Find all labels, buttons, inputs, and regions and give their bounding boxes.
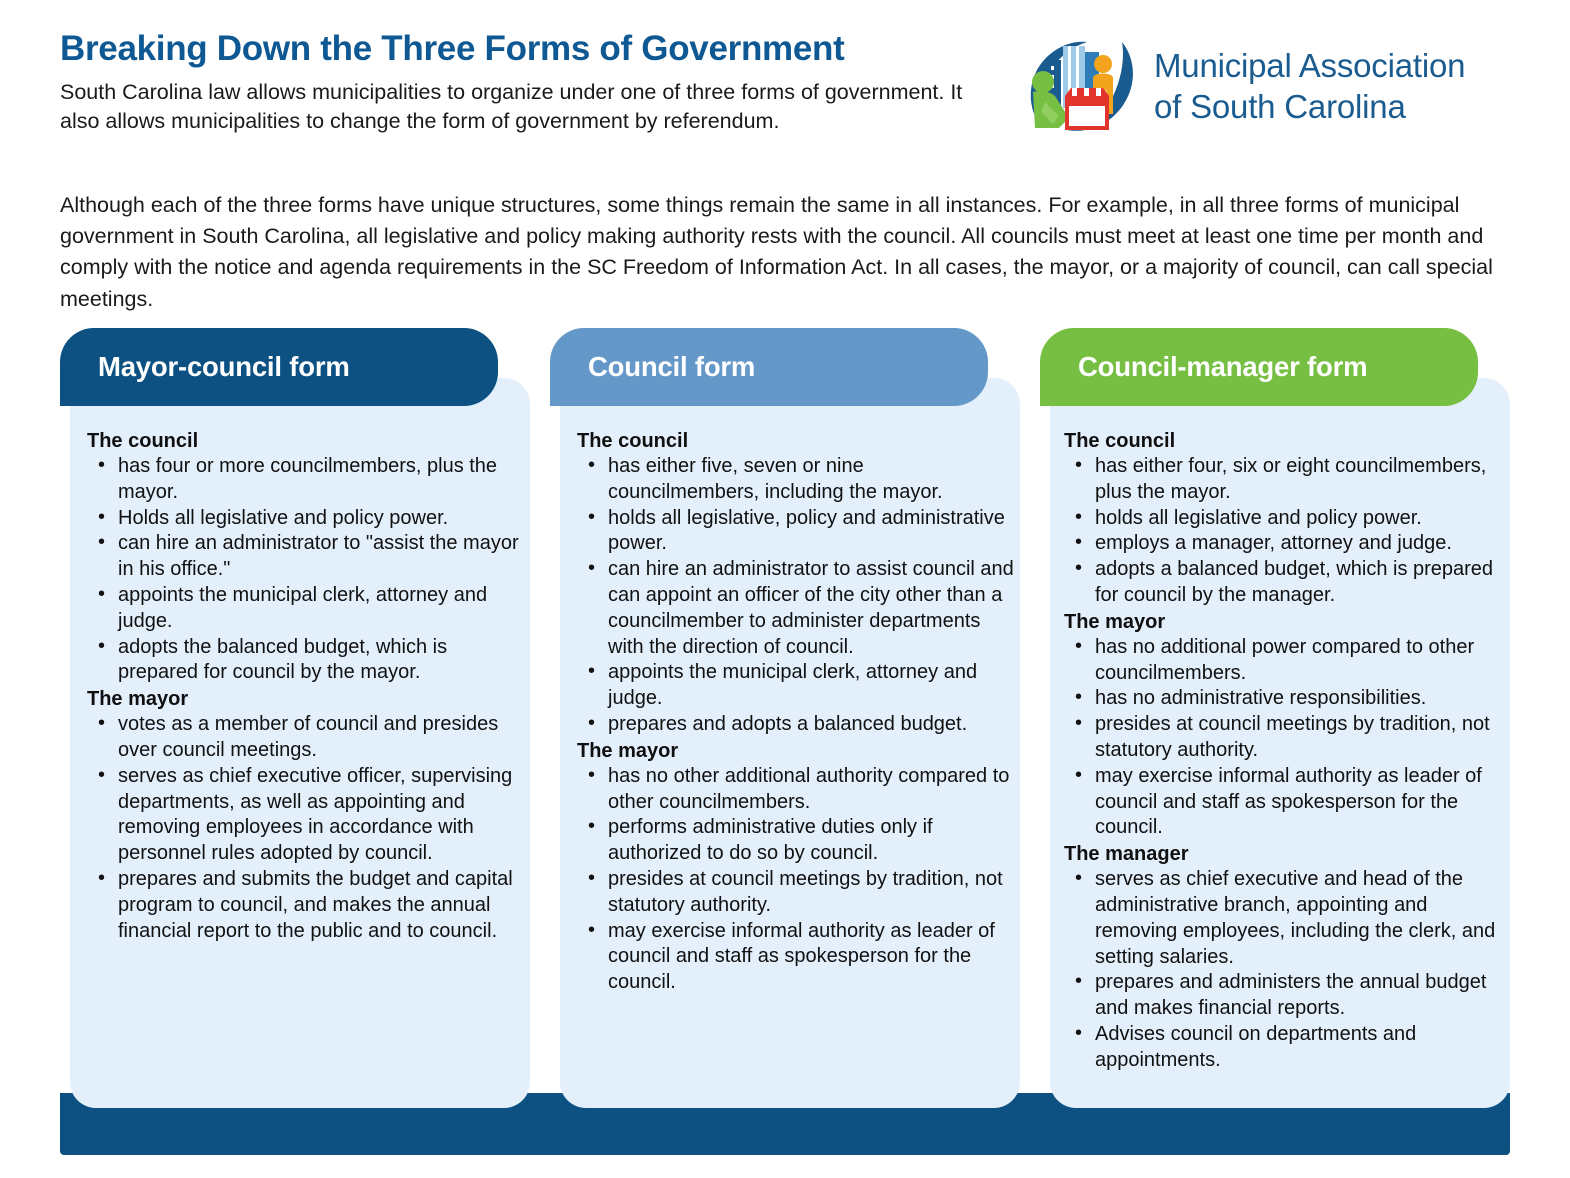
bullet-list: has either four, six or eight councilmem…: [1064, 454, 1508, 609]
bullet-list: votes as a member of council and preside…: [87, 712, 519, 944]
bullet-list: has either five, seven or nine councilme…: [577, 454, 1017, 738]
list-item: has either four, six or eight councilmem…: [1064, 454, 1508, 506]
list-item: serves as chief executive and head of th…: [1064, 867, 1508, 970]
card-title: Council form: [588, 351, 755, 383]
organization-name: Municipal Association of South Carolina: [1154, 45, 1465, 128]
list-item: can hire an administrator to assist coun…: [577, 557, 1017, 660]
card-header-banner: Council-manager form: [1040, 328, 1478, 406]
card-header-banner: Council form: [550, 328, 988, 406]
page-title: Breaking Down the Three Forms of Governm…: [60, 28, 1020, 69]
list-item: may exercise informal authority as leade…: [577, 919, 1017, 996]
section-heading: The council: [87, 430, 519, 453]
list-item: appoints the municipal clerk, attorney a…: [87, 583, 519, 635]
section-heading: The council: [577, 430, 1017, 453]
intro-paragraph: Although each of the three forms have un…: [60, 190, 1512, 315]
list-item: has no other additional authority compar…: [577, 764, 1017, 816]
section-heading: The mayor: [1064, 611, 1508, 634]
list-item: presides at council meetings by traditio…: [1064, 712, 1508, 764]
list-item: appoints the municipal clerk, attorney a…: [577, 660, 1017, 712]
list-item: serves as chief executive officer, super…: [87, 764, 519, 867]
municipal-association-crescent-city-logo-icon: [1025, 30, 1137, 142]
section-heading: The mayor: [87, 688, 519, 711]
page-subhead: South Carolina law allows municipalities…: [60, 78, 965, 135]
forms-of-government-cards: Mayor-council formThe councilhas four or…: [60, 328, 1510, 1108]
government-form-card: Mayor-council formThe councilhas four or…: [60, 328, 530, 1108]
section-heading: The council: [1064, 430, 1508, 453]
list-item: has no additional power compared to othe…: [1064, 635, 1508, 687]
government-form-card: Council formThe councilhas either five, …: [550, 328, 1020, 1108]
card-title: Council-manager form: [1078, 351, 1367, 383]
list-item: can hire an administrator to "assist the…: [87, 531, 519, 583]
list-item: prepares and submits the budget and capi…: [87, 867, 519, 944]
list-item: prepares and administers the annual budg…: [1064, 970, 1508, 1022]
list-item: holds all legislative and policy power.: [1064, 506, 1508, 532]
list-item: has no administrative responsibilities.: [1064, 686, 1508, 712]
card-content: The councilhas either four, six or eight…: [1064, 428, 1508, 1076]
list-item: prepares and adopts a balanced budget.: [577, 712, 1017, 738]
list-item: has four or more councilmembers, plus th…: [87, 454, 519, 506]
card-title: Mayor-council form: [98, 351, 350, 383]
list-item: has either five, seven or nine councilme…: [577, 454, 1017, 506]
list-item: Holds all legislative and policy power.: [87, 506, 519, 532]
government-form-card: Council-manager formThe councilhas eithe…: [1040, 328, 1510, 1108]
list-item: adopts a balanced budget, which is prepa…: [1064, 557, 1508, 609]
card-header-banner: Mayor-council form: [60, 328, 498, 406]
list-item: Advises council on departments and appoi…: [1064, 1022, 1508, 1074]
bullet-list: has no other additional authority compar…: [577, 764, 1017, 996]
list-item: votes as a member of council and preside…: [87, 712, 519, 764]
bullet-list: serves as chief executive and head of th…: [1064, 867, 1508, 1073]
card-content: The councilhas four or more councilmembe…: [87, 428, 519, 946]
list-item: adopts the balanced budget, which is pre…: [87, 635, 519, 687]
bullet-list: has four or more councilmembers, plus th…: [87, 454, 519, 686]
page-header: Breaking Down the Three Forms of Governm…: [60, 28, 1510, 168]
organization-logo: Municipal Association of South Carolina: [1025, 30, 1465, 142]
list-item: employs a manager, attorney and judge.: [1064, 531, 1508, 557]
list-item: performs administrative duties only if a…: [577, 815, 1017, 867]
headline-block: Breaking Down the Three Forms of Governm…: [60, 28, 1020, 135]
bullet-list: has no additional power compared to othe…: [1064, 635, 1508, 841]
list-item: may exercise informal authority as leade…: [1064, 764, 1508, 841]
list-item: holds all legislative, policy and admini…: [577, 506, 1017, 558]
section-heading: The mayor: [577, 740, 1017, 763]
list-item: presides at council meetings by traditio…: [577, 867, 1017, 919]
section-heading: The manager: [1064, 843, 1508, 866]
infographic-page: Breaking Down the Three Forms of Governm…: [0, 0, 1570, 1178]
card-content: The councilhas either five, seven or nin…: [577, 428, 1017, 998]
